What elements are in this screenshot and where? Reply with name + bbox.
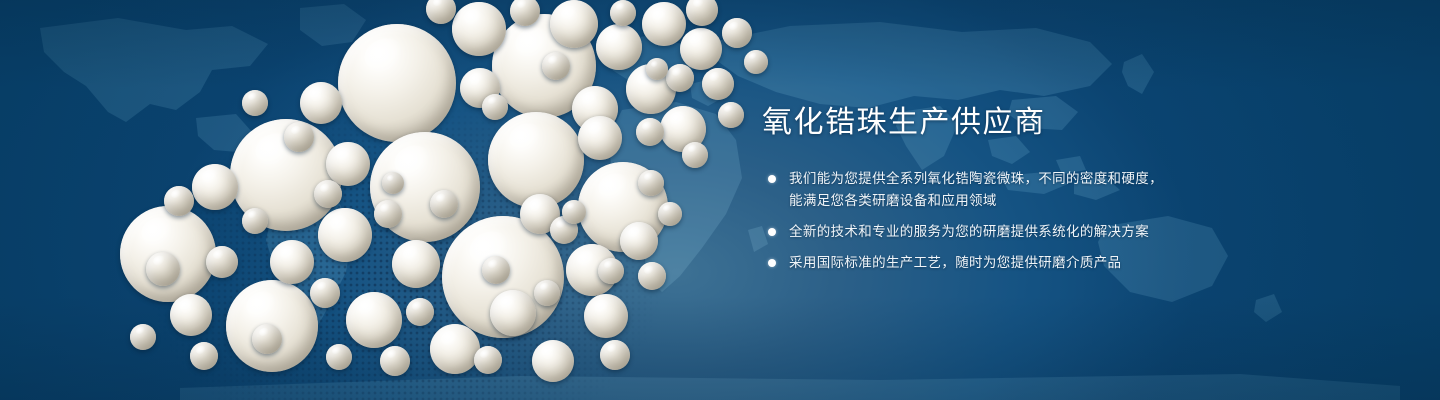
banner-text-block: 氧化锆珠生产供应商 我们能为您提供全系列氧化锆陶瓷微珠，不同的密度和硬度， 能满… bbox=[762, 104, 1382, 274]
list-item: 我们能为您提供全系列氧化锆陶瓷微珠，不同的密度和硬度， 能满足您各类研磨设备和应… bbox=[762, 168, 1382, 212]
list-item: 全新的技术和专业的服务为您的研磨提供系统化的解决方案 bbox=[762, 221, 1382, 243]
page-title: 氧化锆珠生产供应商 bbox=[762, 104, 1382, 142]
list-item-line2: 能满足您各类研磨设备和应用领域 bbox=[789, 190, 1382, 212]
hero-banner: 氧化锆珠生产供应商 我们能为您提供全系列氧化锆陶瓷微珠，不同的密度和硬度， 能满… bbox=[0, 0, 1440, 400]
zirconia-beads-image bbox=[130, 0, 740, 400]
list-item-line1: 采用国际标准的生产工艺，随时为您提供研磨介质产品 bbox=[789, 255, 1121, 270]
list-item-line1: 全新的技术和专业的服务为您的研磨提供系统化的解决方案 bbox=[789, 224, 1149, 239]
list-item: 采用国际标准的生产工艺，随时为您提供研磨介质产品 bbox=[762, 252, 1382, 274]
bullet-dot-icon bbox=[768, 259, 776, 267]
list-item-line1: 我们能为您提供全系列氧化锆陶瓷微珠，不同的密度和硬度， bbox=[789, 171, 1163, 186]
bullet-dot-icon bbox=[768, 175, 776, 183]
feature-list: 我们能为您提供全系列氧化锆陶瓷微珠，不同的密度和硬度， 能满足您各类研磨设备和应… bbox=[762, 168, 1382, 274]
bullet-dot-icon bbox=[768, 228, 776, 236]
